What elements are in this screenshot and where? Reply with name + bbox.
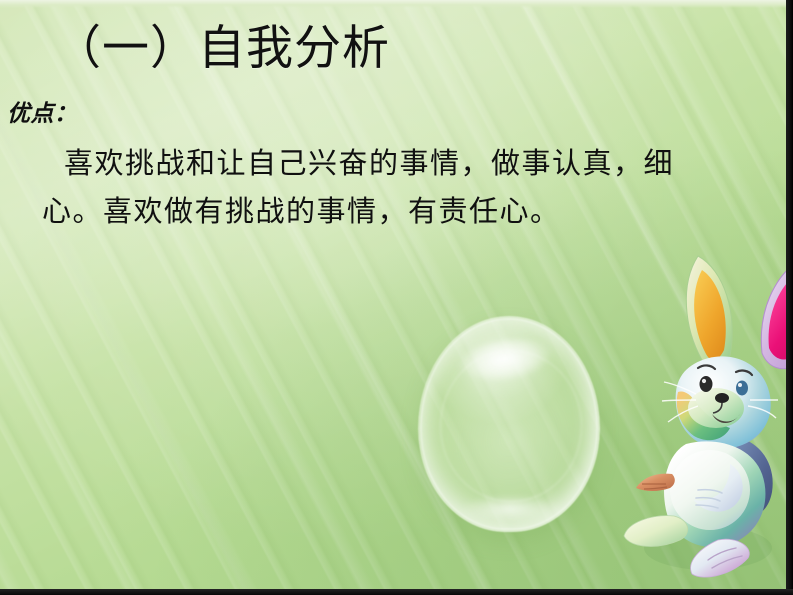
body-paragraph: 喜欢挑战和让自己兴奋的事情，做事认真，细 心。喜欢做有挑战的事情，有责任心。 (8, 140, 648, 236)
rabbit-nose (715, 393, 729, 403)
rabbit-ear-left (686, 256, 732, 369)
slide-bottom-border (0, 589, 793, 595)
droplet-base-glow (440, 492, 580, 526)
slide-right-border (786, 0, 793, 595)
rabbit-muzzle (688, 388, 744, 428)
rabbit-head (662, 356, 778, 448)
rabbit-eye-left (700, 376, 713, 392)
water-droplet (418, 316, 600, 532)
body-line-1: 喜欢挑战和让自己兴奋的事情，做事认真，细 (8, 140, 648, 188)
page-title: （一）自我分析 (54, 22, 390, 77)
body-line-2: 心。喜欢做有挑战的事情，有责任心。 (8, 188, 648, 236)
presentation-slide: （一）自我分析 优点： 喜欢挑战和让自己兴奋的事情，做事认真，细 心。喜欢做有挑… (0, 0, 793, 595)
cartoon-rabbit-mascot (612, 248, 793, 578)
section-subheading: 优点： (7, 100, 78, 128)
slide-top-edge (0, 0, 793, 8)
rabbit-eye-right (736, 381, 748, 396)
